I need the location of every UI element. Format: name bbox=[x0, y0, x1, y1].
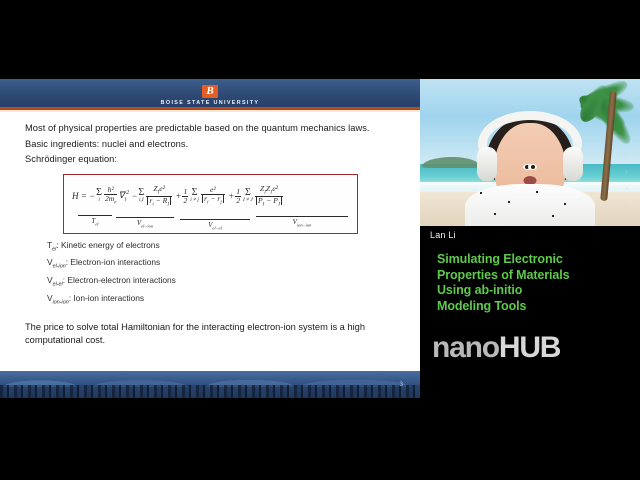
speaker-name-strip: Lan Li bbox=[420, 226, 640, 248]
nanohub-logo-hub: HUB bbox=[499, 331, 560, 364]
slide-footer-skyline: 3 bbox=[0, 371, 420, 398]
boise-state-logo: B BOISE STATE UNIVERSITY bbox=[0, 81, 420, 106]
hamiltonian-underlabel-0: Tel bbox=[78, 217, 112, 226]
city-buildings bbox=[0, 385, 420, 398]
definition-v-el-el: Vel-el: Electron-electron interactions bbox=[0, 274, 420, 292]
nanohub-logo: nanoHUB bbox=[432, 331, 560, 365]
speaker-panel: Lan Li Simulating Electronic Properties … bbox=[420, 79, 640, 398]
underbrace-v-el-ion bbox=[116, 217, 174, 218]
definition-t-el: Tel: Kinetic energy of electrons bbox=[0, 239, 420, 257]
slide-body: Most of physical properties are predicta… bbox=[0, 112, 420, 387]
university-name: BOISE STATE UNIVERSITY bbox=[0, 100, 420, 106]
symbol-definition-list: Tel: Kinetic energy of electrons Vel-ion… bbox=[0, 239, 420, 311]
talk-title-line-3: Modeling Tools bbox=[420, 299, 640, 315]
clipped-edge-text: ᶜᵡᵉᵞ bbox=[625, 147, 639, 215]
speaker-torso bbox=[465, 184, 595, 226]
talk-title-line-0: Simulating Electronic bbox=[420, 248, 640, 268]
slide-line-3: Schrödinger equation: bbox=[0, 152, 420, 168]
talk-title: Simulating Electronic Properties of Mate… bbox=[420, 248, 640, 314]
headphone-earcup-right bbox=[563, 147, 583, 181]
hamiltonian-equation-box: H = − Σi ħ²2me ∇i2 − Σi,I ZIe²ri − RI + … bbox=[63, 174, 358, 234]
hamiltonian-underlabel-1: Vel−ion bbox=[116, 219, 174, 228]
definition-v-el-ion: Vel-ion: Electron-ion interactions bbox=[0, 256, 420, 274]
video-player-frame: B BOISE STATE UNIVERSITY Most of physica… bbox=[0, 0, 640, 480]
closing-statement: The price to solve total Hamiltonian for… bbox=[0, 321, 420, 347]
hamiltonian-underlabel-3: Vion−ion bbox=[256, 218, 348, 227]
headphone-earcup-left bbox=[477, 147, 497, 181]
talk-title-line-2: Using ab-initio bbox=[420, 283, 640, 299]
slide-page-number: 3 bbox=[399, 381, 403, 388]
presentation-slide: B BOISE STATE UNIVERSITY Most of physica… bbox=[0, 79, 420, 398]
underbrace-v-ion-ion bbox=[256, 216, 348, 217]
underbrace-v-el-el bbox=[180, 219, 250, 220]
slide-line-1: Most of physical properties are predicta… bbox=[0, 121, 420, 137]
hamiltonian-expression: H = − Σi ħ²2me ∇i2 − Σi,I ZIe²ri − RI + … bbox=[72, 185, 284, 207]
talk-title-line-1: Properties of Materials bbox=[420, 268, 640, 284]
hamiltonian-underlabel-2: Vel−el bbox=[180, 221, 250, 230]
nanohub-logo-nano: nano bbox=[432, 331, 499, 364]
definition-v-ion-ion: Vion-ion: Ion-ion interactions bbox=[0, 292, 420, 310]
boise-state-b-icon: B bbox=[202, 85, 218, 98]
slide-header-band: B BOISE STATE UNIVERSITY bbox=[0, 79, 420, 107]
slide-line-2: Basic ingredients: nuclei and electrons. bbox=[0, 137, 420, 153]
speaker-webcam-video[interactable] bbox=[420, 79, 640, 226]
underbrace-t-el bbox=[78, 215, 112, 216]
speaker-name: Lan Li bbox=[430, 230, 456, 240]
